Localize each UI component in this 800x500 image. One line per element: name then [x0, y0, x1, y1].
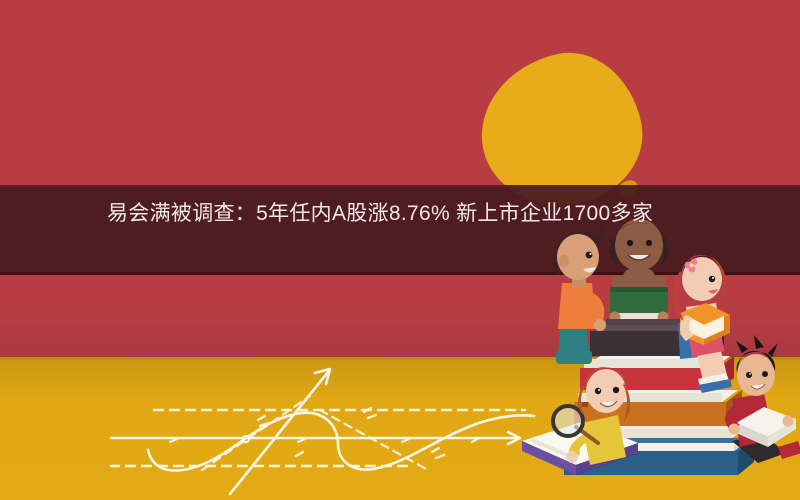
- headline-band-top-edge: [0, 185, 800, 187]
- boy-red-sweater: [725, 335, 800, 463]
- red-band-top: [0, 0, 800, 186]
- headline-text: 易会满被调查：5年任内A股涨8.76% 新上市企业1700多家: [107, 198, 697, 229]
- wavy-trend-curve: [148, 413, 534, 471]
- doodle-tick-marks: [170, 408, 516, 458]
- news-poster: 易会满被调查：5年任内A股涨8.76% 新上市企业1700多家: [0, 0, 800, 500]
- rising-diagonal-arrow: [230, 372, 328, 494]
- children-reading-on-book-stack: [520, 195, 800, 500]
- stock-chart-doodle: [110, 358, 540, 500]
